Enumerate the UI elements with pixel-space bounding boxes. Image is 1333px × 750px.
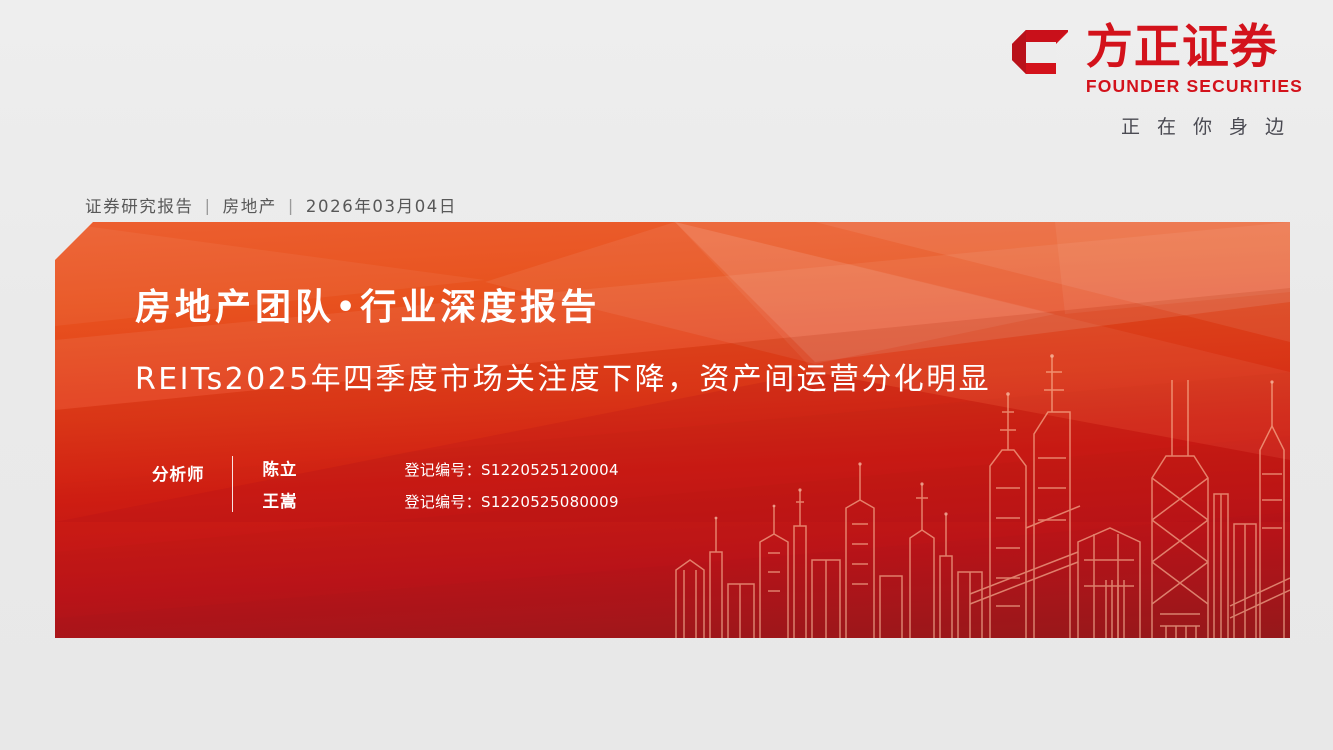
analyst-row: 王嵩 登记编号：S1220525080009 — [263, 488, 619, 512]
analyst-row: 陈立 登记编号：S1220525120004 — [263, 456, 619, 480]
analyst-rows: 陈立 登记编号：S1220525120004 王嵩 登记编号：S12205250… — [263, 456, 619, 512]
analyst-name: 王嵩 — [263, 488, 405, 512]
report-cover-page: 方正证券 FOUNDER SECURITIES 正在你身边 证券研究报告 | 房… — [0, 0, 1333, 750]
breadcrumb-date: 2026年03月04日 — [306, 193, 457, 217]
analyst-divider — [232, 456, 233, 512]
brand-tagline: 正在你身边 — [1013, 112, 1303, 139]
breadcrumb-separator-1: | — [205, 196, 212, 215]
report-title-banner: 房地产团队•行业深度报告 REITs2025年四季度市场关注度下降，资产间运营分… — [55, 222, 1290, 638]
title-prefix: 房地产团队 — [135, 287, 335, 328]
analyst-registration-label: 登记编号： — [405, 461, 482, 479]
brand-name-cn: 方正证券 — [1086, 24, 1278, 72]
brand-name-en: FOUNDER SECURITIES — [1086, 76, 1303, 97]
title-suffix: 行业深度报告 — [360, 287, 600, 328]
analyst-label: 分析师 — [152, 456, 205, 485]
brand-logo-block: 方正证券 FOUNDER SECURITIES 正在你身边 — [1013, 24, 1303, 139]
breadcrumb-sector: 房地产 — [223, 193, 277, 217]
analyst-registration: 登记编号：S1220525120004 — [405, 459, 619, 480]
analyst-block: 分析师 陈立 登记编号：S1220525120004 王嵩 登记编号：S1220… — [152, 456, 619, 512]
title-bullet: • — [336, 290, 359, 325]
banner-text-layer: 房地产团队•行业深度报告 REITs2025年四季度市场关注度下降，资产间运营分… — [55, 222, 1290, 638]
analyst-registration-label: 登记编号： — [405, 493, 482, 511]
breadcrumb-separator-2: | — [288, 196, 295, 215]
page-subtitle: REITs2025年四季度市场关注度下降，资产间运营分化明显 — [135, 354, 991, 398]
analyst-registration: 登记编号：S1220525080009 — [405, 491, 619, 512]
analyst-registration-number: S1220525120004 — [481, 461, 619, 479]
breadcrumb-category: 证券研究报告 — [85, 193, 194, 217]
analyst-name: 陈立 — [263, 456, 405, 480]
breadcrumb: 证券研究报告 | 房地产 | 2026年03月04日 — [85, 193, 457, 217]
founder-hexagon-logo-icon — [1010, 28, 1072, 90]
analyst-registration-number: S1220525080009 — [481, 493, 619, 511]
page-title: 房地产团队•行业深度报告 — [135, 278, 600, 330]
